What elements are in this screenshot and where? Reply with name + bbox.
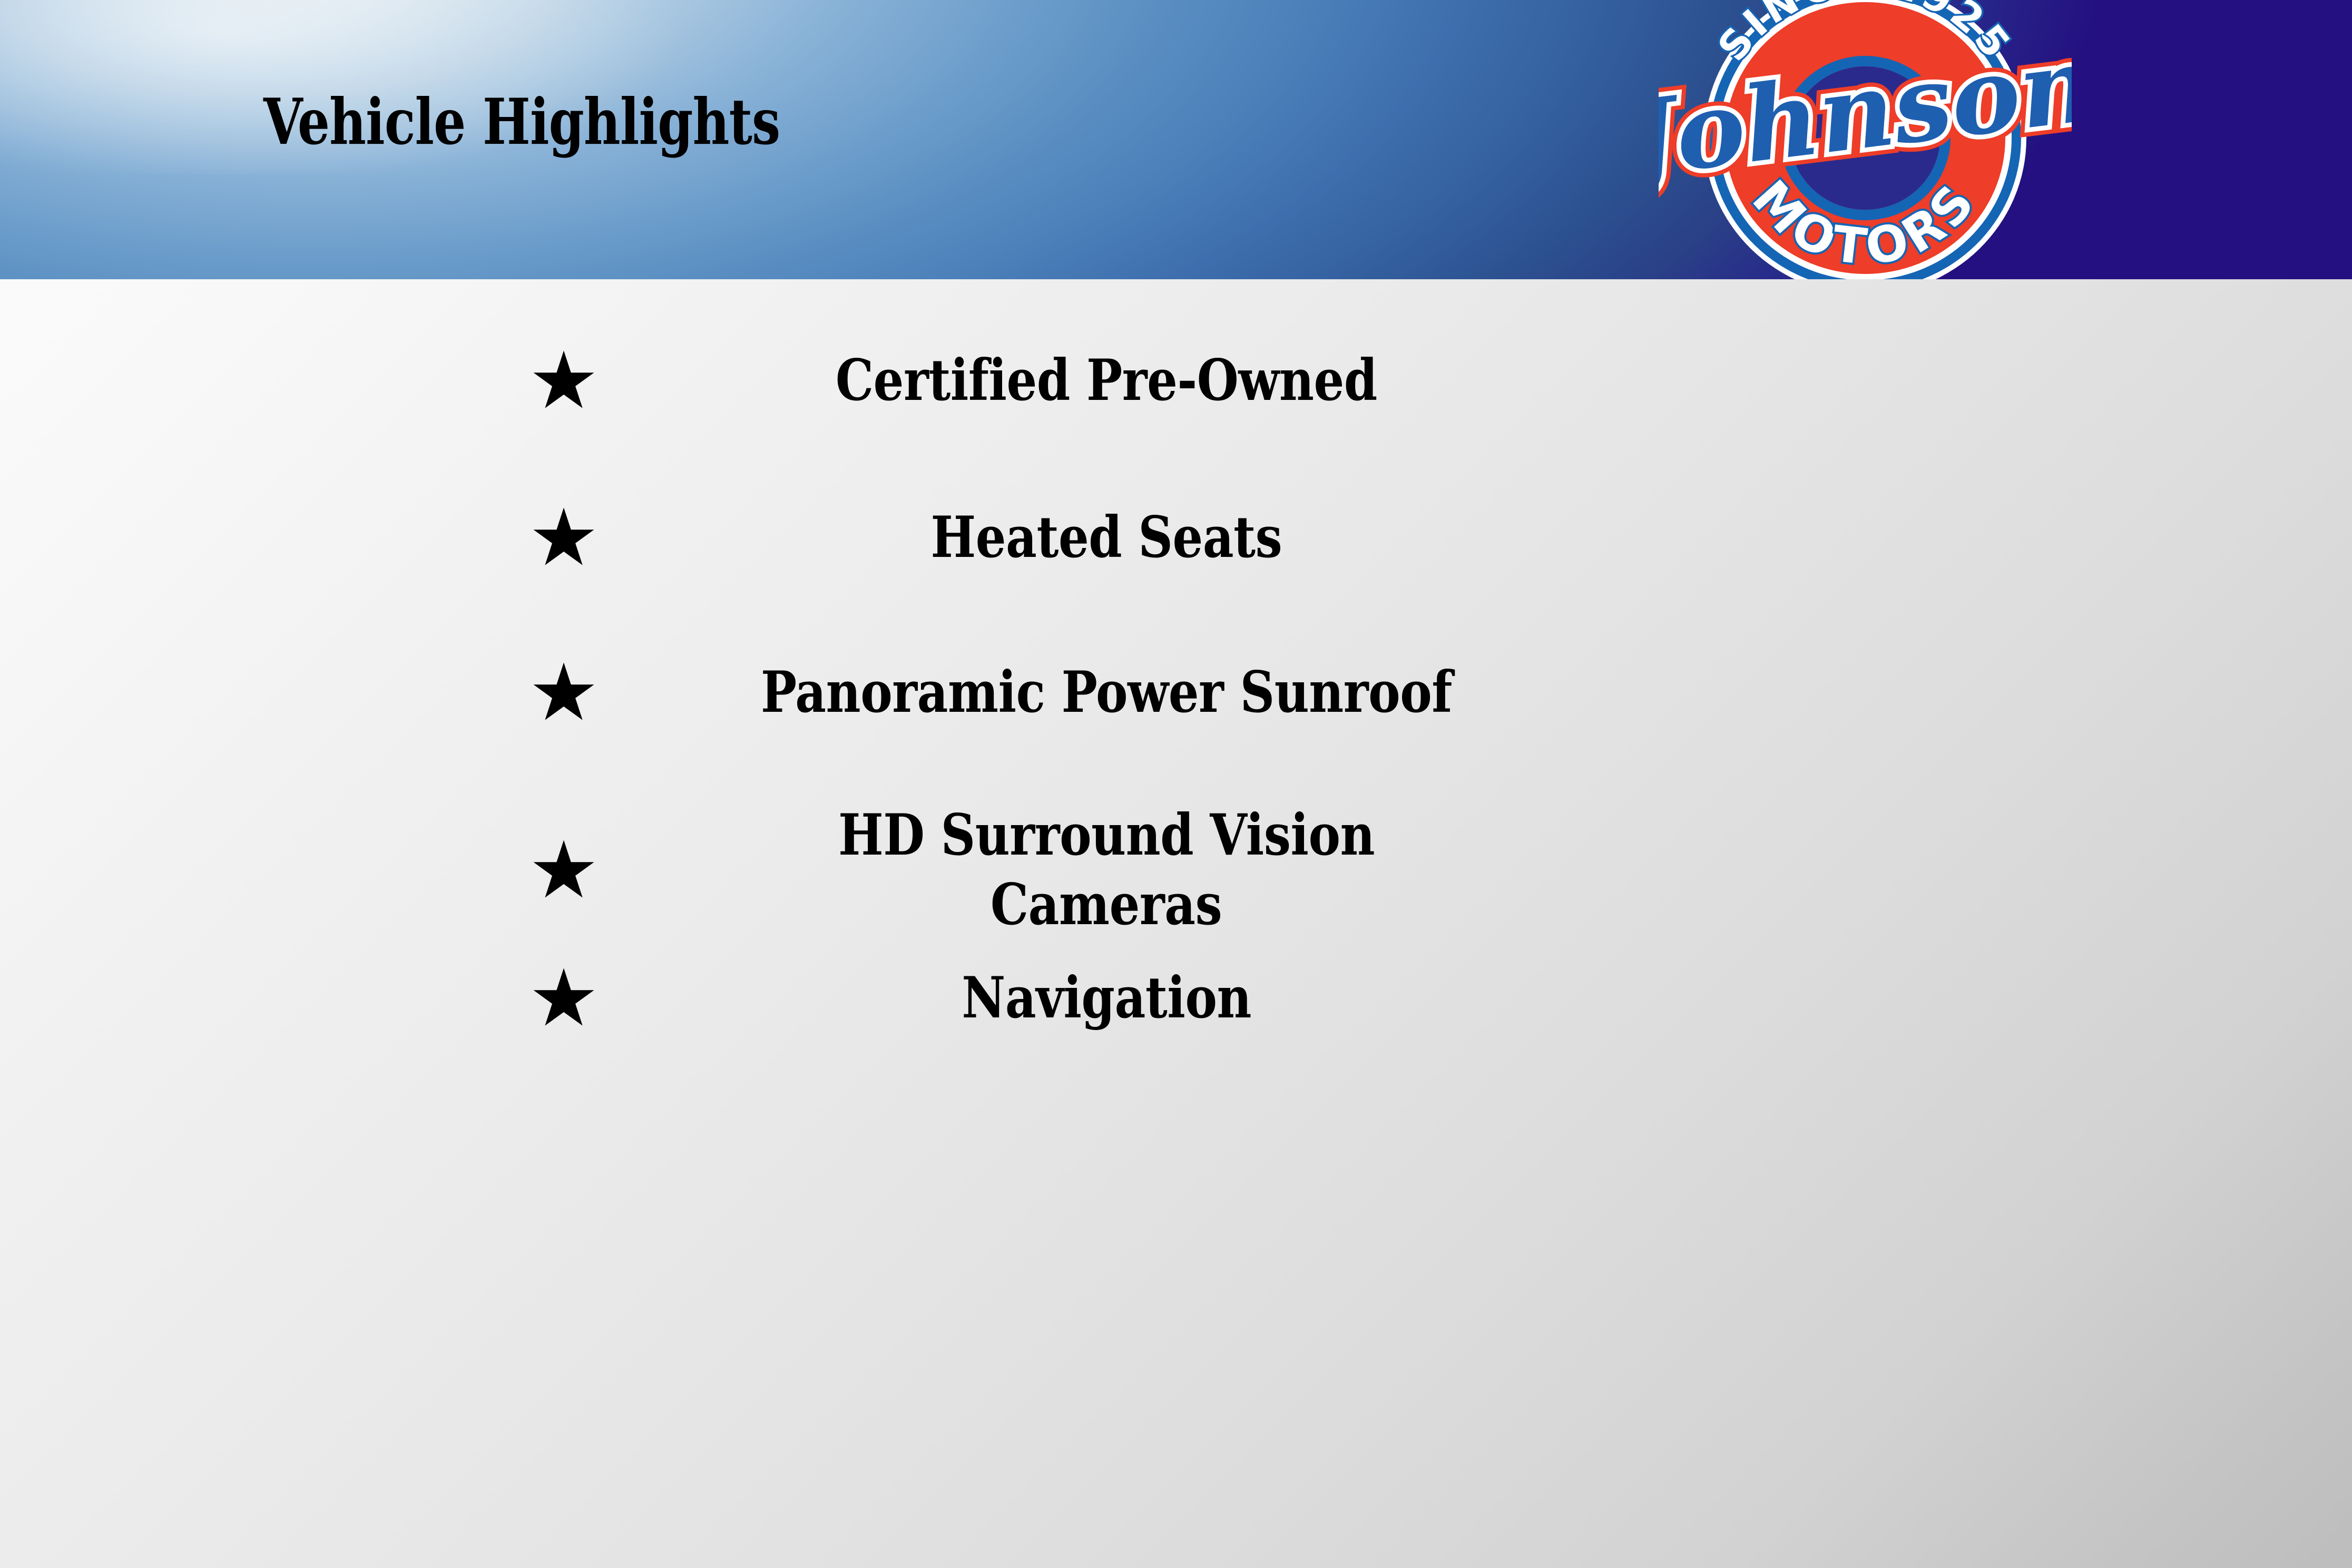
johnson-motors-logo: SINCE 1925 MOTORS Johnson Johnson Johnso… <box>1659 0 2072 279</box>
list-item: ★ Navigation <box>0 959 1686 1038</box>
star-icon: ★ <box>495 959 632 1038</box>
list-item: ★ HD Surround Vision Cameras <box>0 801 1686 940</box>
slide-canvas: Vehicle Highlights <box>0 0 2352 1568</box>
list-item: ★ Certified Pre-Owned <box>0 341 1686 420</box>
highlight-label: Panoramic Power Sunroof <box>632 658 1686 728</box>
star-icon: ★ <box>495 498 632 577</box>
list-item: ★ Panoramic Power Sunroof <box>0 653 1686 732</box>
highlight-label: HD Surround Vision Cameras <box>632 801 1686 940</box>
page-title: Vehicle Highlights <box>263 91 780 154</box>
header-bar: Vehicle Highlights <box>0 0 2352 279</box>
highlight-label: Certified Pre-Owned <box>632 346 1686 416</box>
highlight-label: Heated Seats <box>632 503 1686 573</box>
star-icon: ★ <box>495 341 632 420</box>
star-icon: ★ <box>495 831 632 910</box>
list-item: ★ Heated Seats <box>0 498 1686 577</box>
highlight-label: Navigation <box>632 964 1686 1033</box>
star-icon: ★ <box>495 653 632 732</box>
vehicle-highlights-list: ★ Certified Pre-Owned ★ Heated Seats ★ P… <box>0 279 2352 1568</box>
